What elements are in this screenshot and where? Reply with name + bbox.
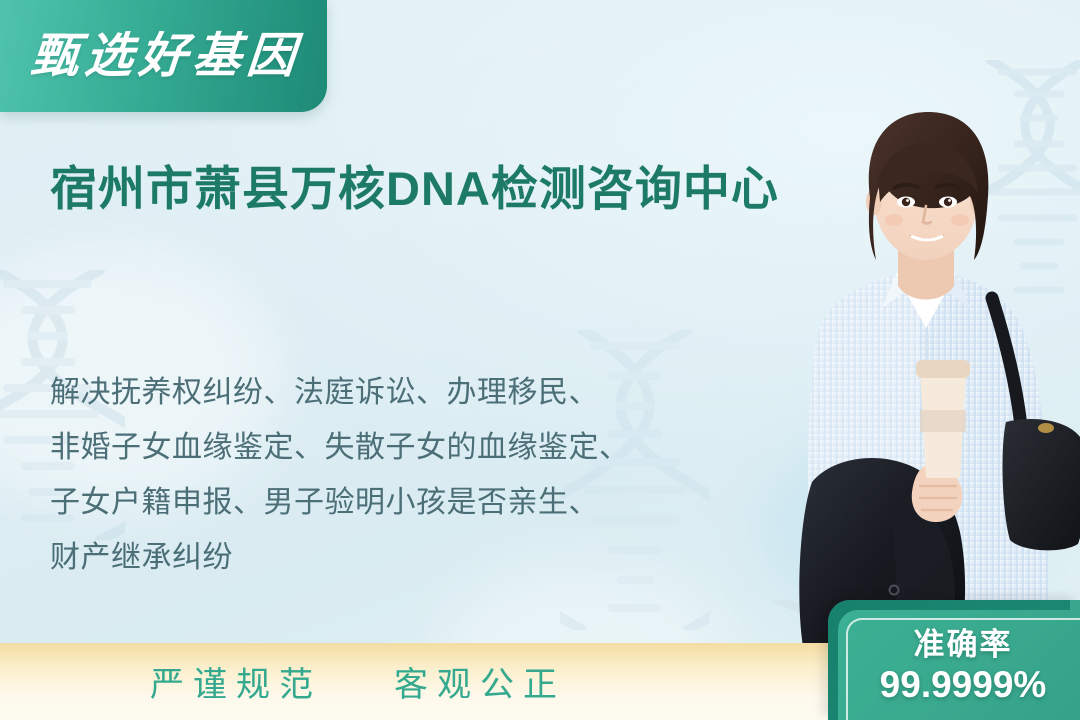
description-line: 子女户籍申报、男子验明小孩是否亲生、 <box>50 476 750 531</box>
brand-tab-label: 甄选好基因 <box>29 32 303 80</box>
service-description: 解决抚养权纠纷、法庭诉讼、办理移民、 非婚子女血缘鉴定、失散子女的血缘鉴定、 子… <box>50 366 750 586</box>
slogan-rigorous: 严谨规范 <box>150 657 322 706</box>
accuracy-badge-content: 准确率 99.9999% <box>828 600 1080 720</box>
accuracy-badge: 准确率 99.9999% <box>828 600 1080 720</box>
accuracy-value: 99.9999% <box>880 664 1047 707</box>
slogan-objective: 客观公正 <box>394 657 566 706</box>
accuracy-label: 准确率 <box>914 628 1013 662</box>
description-line: 财产继承纠纷 <box>50 531 750 586</box>
description-line: 解决抚养权纠纷、法庭诉讼、办理移民、 <box>50 366 750 421</box>
handbag <box>1003 419 1080 550</box>
description-line: 非婚子女血缘鉴定、失散子女的血缘鉴定、 <box>50 421 750 476</box>
slogan-group: 严谨规范 客观公正 <box>150 643 566 720</box>
brand-tab: 甄选好基因 <box>0 0 327 112</box>
promo-banner: 甄选好基因 <box>0 0 1080 720</box>
page-title: 宿州市萧县万核DNA检测咨询中心 <box>50 158 820 219</box>
